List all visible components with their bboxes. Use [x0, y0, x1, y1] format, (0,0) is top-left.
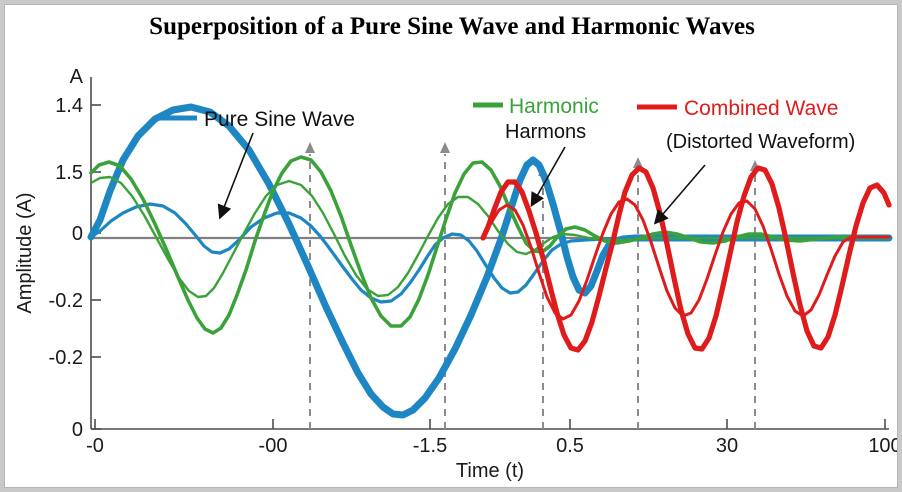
x-tick-label: -00 — [259, 435, 288, 457]
y-tick-label: -0.2 — [49, 290, 83, 312]
y-tick-group: 1.41.50-0.2-0.20 — [49, 95, 101, 441]
pointer-arrow-pure-sine — [221, 133, 253, 215]
x-axis-title: Time (t) — [456, 460, 524, 482]
chart-svg: 1.41.50-0.2-0.20 -0-00-1.50.530100 A Tim… — [5, 5, 898, 488]
y-tick-label: -0.2 — [49, 347, 83, 369]
y-tick-label: 0 — [72, 419, 83, 441]
pointer-arrow-distorted — [657, 165, 705, 221]
y-tick-label: 1.5 — [55, 162, 83, 184]
x-tick-label: 30 — [716, 435, 738, 457]
legend-label-combined-wave: Combined Wave — [684, 97, 838, 120]
legend-item-harmonic[interactable]: Harmonic — [473, 95, 599, 118]
series-group — [91, 107, 889, 415]
x-tick-label: -1.5 — [413, 435, 447, 457]
series-line — [91, 107, 889, 415]
x-tick-label: -0 — [86, 435, 104, 457]
dashed-marker-group — [305, 142, 760, 429]
y-tick-label: 1.4 — [55, 95, 83, 117]
x-tick-group: -0-00-1.50.530100 — [86, 419, 898, 457]
y-axis-title: Amplitude (A) — [14, 192, 36, 313]
legend-label-harmonic: Harmonic — [509, 95, 599, 118]
dashed-marker-1-arrowhead — [305, 142, 315, 153]
annotation-distorted-waveform: (Distorted Waveform) — [666, 131, 855, 153]
legend-label-pure-sine-wave: Pure Sine Wave — [204, 108, 355, 131]
y-axis-corner-label: A — [70, 66, 84, 88]
annotation-harmons: Harmons — [505, 121, 586, 143]
dashed-marker-2-arrowhead — [440, 142, 450, 153]
x-tick-label: 0.5 — [556, 435, 584, 457]
legend-item-combined-wave[interactable]: Combined Wave — [637, 97, 838, 120]
x-tick-label: 100 — [868, 435, 898, 457]
figure-panel: Superposition of a Pure Sine Wave and Ha… — [4, 4, 898, 488]
plot-area: 1.41.50-0.2-0.20 -0-00-1.50.530100 A Tim… — [5, 5, 898, 488]
y-tick-label: 0 — [72, 223, 83, 245]
legend-item-pure-sine-wave[interactable]: Pure Sine Wave — [157, 108, 355, 131]
